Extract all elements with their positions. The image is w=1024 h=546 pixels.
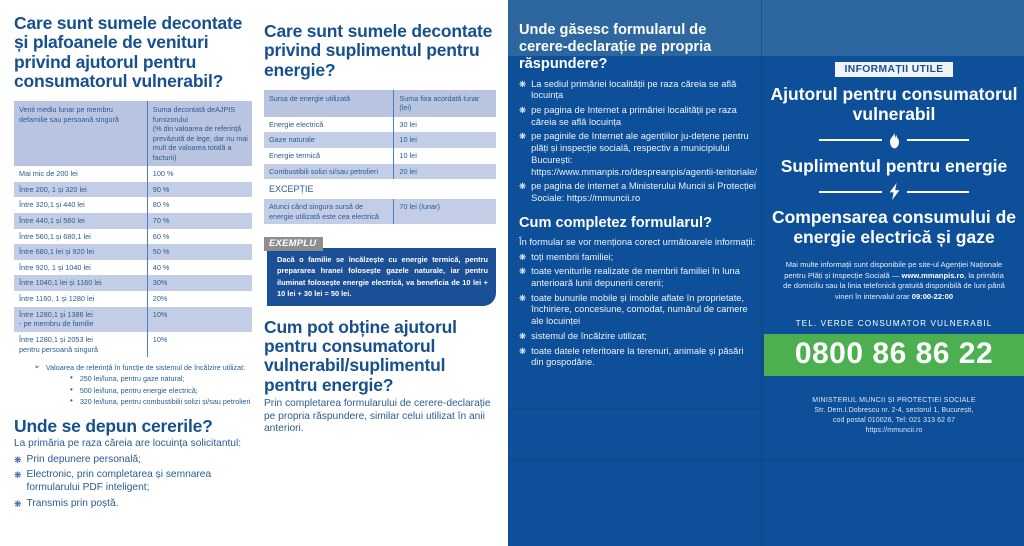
list-item-label: Electronic, prin completarea și semnarea… [27,469,252,495]
flower-bullet-icon: ❋ [519,266,526,289]
table-cell-amount: 10 lei [394,148,496,164]
note-sub-item: •250 lei/luna, pentru gaze natural; [14,374,252,384]
table-cell-income: Între 200, 1 și 320 lei [14,182,147,198]
panel-horizontal-divider-left [508,408,761,409]
list-item-label: toți membrii familiei; [531,252,613,264]
promo-note-hours: 09:00-22:00 [912,292,953,301]
table-header-cell-source: Sursa de energie utilizată [264,90,394,117]
table-row: Între 1280,1 și 2053 leipentru persoană … [14,332,252,357]
table-header-cell-income: Venit mediu lunar pe membru defamilie sa… [14,101,147,166]
table-row: Între 560,1 și 680,1 lei60 % [14,229,252,245]
table-row: Între 200, 1 și 320 lei90 % [14,182,252,198]
table-cell-income: Între 1280,1 și 2053 leipentru persoană … [14,332,147,357]
separator-line-left-2 [819,191,882,193]
table-cell-percent: 100 % [147,166,252,182]
separator-bolt [819,183,969,200]
table-cell-percent: 10% [147,332,252,357]
table-cell-income: Între 560,1 și 680,1 lei [14,229,147,245]
table-header-cell-amount: Suma decontată deAJPIS furnizorului(% di… [147,101,252,166]
dot-bullet-icon: • [70,374,73,384]
footer-website[interactable]: https://mmuncii.ro [786,426,1002,436]
example-text: Dacă o familie se încălzește cu energie … [267,248,496,305]
separator-line-right [907,139,970,141]
phone-number[interactable]: 0800 86 86 22 [764,339,1024,369]
table-cell-income: Mai mic de 200 lei [14,166,147,182]
flower-bullet-icon: ❋ [519,252,526,264]
income-thresholds-table: Venit mediu lunar pe membru defamilie sa… [14,101,252,357]
flower-bullet-icon: ❋ [519,346,526,369]
table-cell-percent: 30% [147,275,252,291]
status-badge: INFORMAȚII UTILE [835,62,952,77]
footer-address: MINISTERUL MUNCII ȘI PROTECȚIEI SOCIALE … [764,396,1024,437]
table-cell-income: Între 680,1 lei și 920 lei [14,244,147,260]
table-cell-percent: 60 % [147,229,252,245]
list-item-label: sistemul de încălzire utilizat; [531,331,647,343]
panel-vertical-divider [761,0,762,546]
separator-line-left [819,139,882,141]
table-cell-percent: 80 % [147,197,252,213]
table-header-row: Venit mediu lunar pe membru defamilie sa… [14,101,252,166]
table-row: Între 920, 1 și 1040 lei40 % [14,260,252,276]
footer-ministry: MINISTERUL MUNCII ȘI PROTECȚIEI SOCIALE [786,396,1002,406]
promo-note: Mai multe informații sunt disponibile pe… [764,260,1024,303]
table-cell-percent: 70 % [147,213,252,229]
example-block: EXEMPLU Dacă o familie se încălzește cu … [264,233,496,305]
lightning-bolt-icon [888,183,901,200]
flame-icon [888,132,901,149]
promo-title-one: Ajutorul pentru consumatorul vulnerabil [764,85,1024,125]
table-row: Gaze naturale10 lei [264,132,496,148]
list-item-label: toate bunurile mobile și imobile aflate … [531,293,757,328]
table-cell-source: Atunci când singura sursă de energie uti… [264,199,394,224]
list-item: ❋Prin depunere personală; [14,454,252,467]
list-item: ❋toți membrii familiei; [519,252,757,264]
table-header-cell-amount: Suma fixa acordată lunar (lei) [394,90,496,117]
promo-note-site: www.mmanpis.ro [902,271,965,280]
separator-line-right-2 [907,191,970,193]
table-row: Mai mic de 200 lei100 % [14,166,252,182]
where-to-submit-heading: Unde se depun cererile? [14,417,252,436]
reference-value-note: ➢ Valoarea de referință în funcție de si… [14,363,252,407]
table-row: Energie electrică30 lei [264,117,496,133]
flower-bullet-icon: ❋ [519,331,526,343]
where-to-submit-lead: La primăria pe raza căreia are locuința … [14,438,252,451]
exception-label-row: EXCEPȚIE [264,179,496,199]
green-line-label: TEL. VERDE CONSUMATOR VULNERABIL [764,319,1024,328]
table-cell-source: Energie termică [264,148,394,164]
column-two-heading: Care sunt sumele decontate privind supli… [264,22,496,80]
column-one: Care sunt sumele decontate și plafoanele… [14,14,252,534]
table-row: Combustibili solizi si/sau petrolieri20 … [264,164,496,180]
table-cell-income: Între 1160, 1 și 1280 lei [14,291,147,307]
note-sub-text: 500 lei/luna, pentru energie electrică; [80,386,198,396]
note-sub-text: 250 lei/luna, pentru gaze natural; [80,374,185,384]
note-sub-item: •500 lei/luna, pentru energie electrică; [14,386,252,396]
table-cell-income: Între 1280,1 și 1386 lei- pe membru de f… [14,307,147,332]
arrow-bullet-icon: ➢ [34,363,40,373]
table-row: Între 680,1 lei și 920 lei50 % [14,244,252,260]
list-item: ❋Electronic, prin completarea și semnare… [14,469,252,495]
list-item-label: pe paginile de Internet ale agențiilor j… [531,131,757,178]
footer-postal: cod postal 010026, Tel: 021 313 62 67 [786,416,1002,426]
exception-label: EXCEPȚIE [264,179,496,199]
table-cell-percent: 40 % [147,260,252,276]
column-three: Unde găsesc formularul de cerere-declara… [519,22,757,369]
table-row: Între 320,1 și 440 lei80 % [14,197,252,213]
list-item-label: Transmis prin poștă. [27,498,119,511]
column-two: Care sunt sumele decontate privind supli… [264,22,496,534]
flower-bullet-icon: ❋ [14,454,22,467]
note-sub-text: 320 lei/luna, pentru combustibilii soliz… [80,397,251,407]
separator-flame [819,132,969,149]
flower-bullet-icon: ❋ [519,131,526,178]
how-to-obtain-paragraph: Prin completarea formularului de cerere-… [264,398,496,436]
column-four-promo: INFORMAȚII UTILE Ajutorul pentru consuma… [764,0,1024,546]
table-cell-percent: 10% [147,307,252,332]
flower-bullet-icon: ❋ [14,469,22,495]
flower-bullet-icon: ❋ [519,105,526,128]
list-item: ❋toate datele referitoare la terenuri, a… [519,346,757,369]
list-item-label: La sediul primăriei localității pe raza … [531,79,757,102]
table-cell-percent: 50 % [147,244,252,260]
list-item-label: pe pagina de Internet a primăriei locali… [531,105,757,128]
how-to-fill-heading: Cum completez formularul? [519,215,757,232]
flower-bullet-icon: ❋ [519,181,526,204]
table-cell-income: Între 920, 1 și 1040 lei [14,260,147,276]
dot-bullet-icon: • [70,397,73,407]
list-item-label: toate veniturile realizate de membrii fa… [531,266,757,289]
flower-bullet-icon: ❋ [14,498,22,511]
list-item-label: toate datele referitoare la terenuri, an… [531,346,757,369]
table-row: Între 1040,1 lei și 1160 lei30% [14,275,252,291]
note-line: ➢ Valoarea de referință în funcție de si… [14,363,252,373]
list-item-label: Prin depunere personală; [27,454,141,467]
table-cell-percent: 20% [147,291,252,307]
table-cell-source: Gaze naturale [264,132,394,148]
table-row: Energie termică10 lei [264,148,496,164]
footer-street: Str. Dem.I.Dobrescu nr. 2-4, sectorul 1,… [786,406,1002,416]
list-item: ❋pe paginile de Internet ale agențiilor … [519,131,757,178]
how-to-fill-lead: În formular se vor menționa corect următ… [519,237,757,249]
table-cell-source: Energie electrică [264,117,394,133]
promo-title-three: Compensarea consumului de energie electr… [764,208,1024,248]
table-row: Între 1160, 1 și 1280 lei20% [14,291,252,307]
table-cell-amount: 20 lei [394,164,496,180]
exception-row: Atunci când singura sursă de energie uti… [264,199,496,224]
column-one-heading: Care sunt sumele decontate și plafoanele… [14,14,252,91]
flower-bullet-icon: ❋ [519,293,526,328]
flower-bullet-icon: ❋ [519,79,526,102]
table-row: Între 440,1 și 560 lei70 % [14,213,252,229]
note-text: Valoarea de referință în funcție de sist… [46,363,245,373]
energy-supplement-table: Sursa de energie utilizatăSuma fixa acor… [264,90,496,225]
brochure-page: Care sunt sumele decontate și plafoanele… [0,0,1024,546]
table-cell-percent: 90 % [147,182,252,198]
table-cell-amount: 70 lei (lunar) [394,199,496,224]
green-phone-banner: 0800 86 86 22 [764,334,1024,376]
dot-bullet-icon: • [70,386,73,396]
table-header-row: Sursa de energie utilizatăSuma fixa acor… [264,90,496,117]
list-item-label: pe pagina de internet a Ministerului Mun… [531,181,757,204]
example-label: EXEMPLU [264,237,323,251]
list-item: ❋pe pagina de internet a Ministerului Mu… [519,181,757,204]
where-find-form-heading: Unde găsesc formularul de cerere-declara… [519,22,757,74]
list-item: ❋La sediul primăriei localității pe raza… [519,79,757,102]
table-cell-source: Combustibili solizi si/sau petrolieri [264,164,394,180]
how-to-obtain-heading: Cum pot obține ajutorul pentru consumato… [264,318,496,395]
table-cell-amount: 10 lei [394,132,496,148]
note-sub-item: •320 lei/luna, pentru combustibilii soli… [14,397,252,407]
list-item: ❋toate bunurile mobile și imobile aflate… [519,293,757,328]
promo-title-two: Suplimentul pentru energie [764,157,1024,177]
table-row: Între 1280,1 și 1386 lei- pe membru de f… [14,307,252,332]
list-item: ❋pe pagina de Internet a primăriei local… [519,105,757,128]
list-item: ❋sistemul de încălzire utilizat; [519,331,757,343]
list-item: ❋Transmis prin poștă. [14,498,252,511]
table-cell-income: Între 1040,1 lei și 1160 lei [14,275,147,291]
table-cell-income: Între 320,1 și 440 lei [14,197,147,213]
list-item: ❋toate veniturile realizate de membrii f… [519,266,757,289]
table-cell-income: Între 440,1 și 560 lei [14,213,147,229]
table-cell-amount: 30 lei [394,117,496,133]
